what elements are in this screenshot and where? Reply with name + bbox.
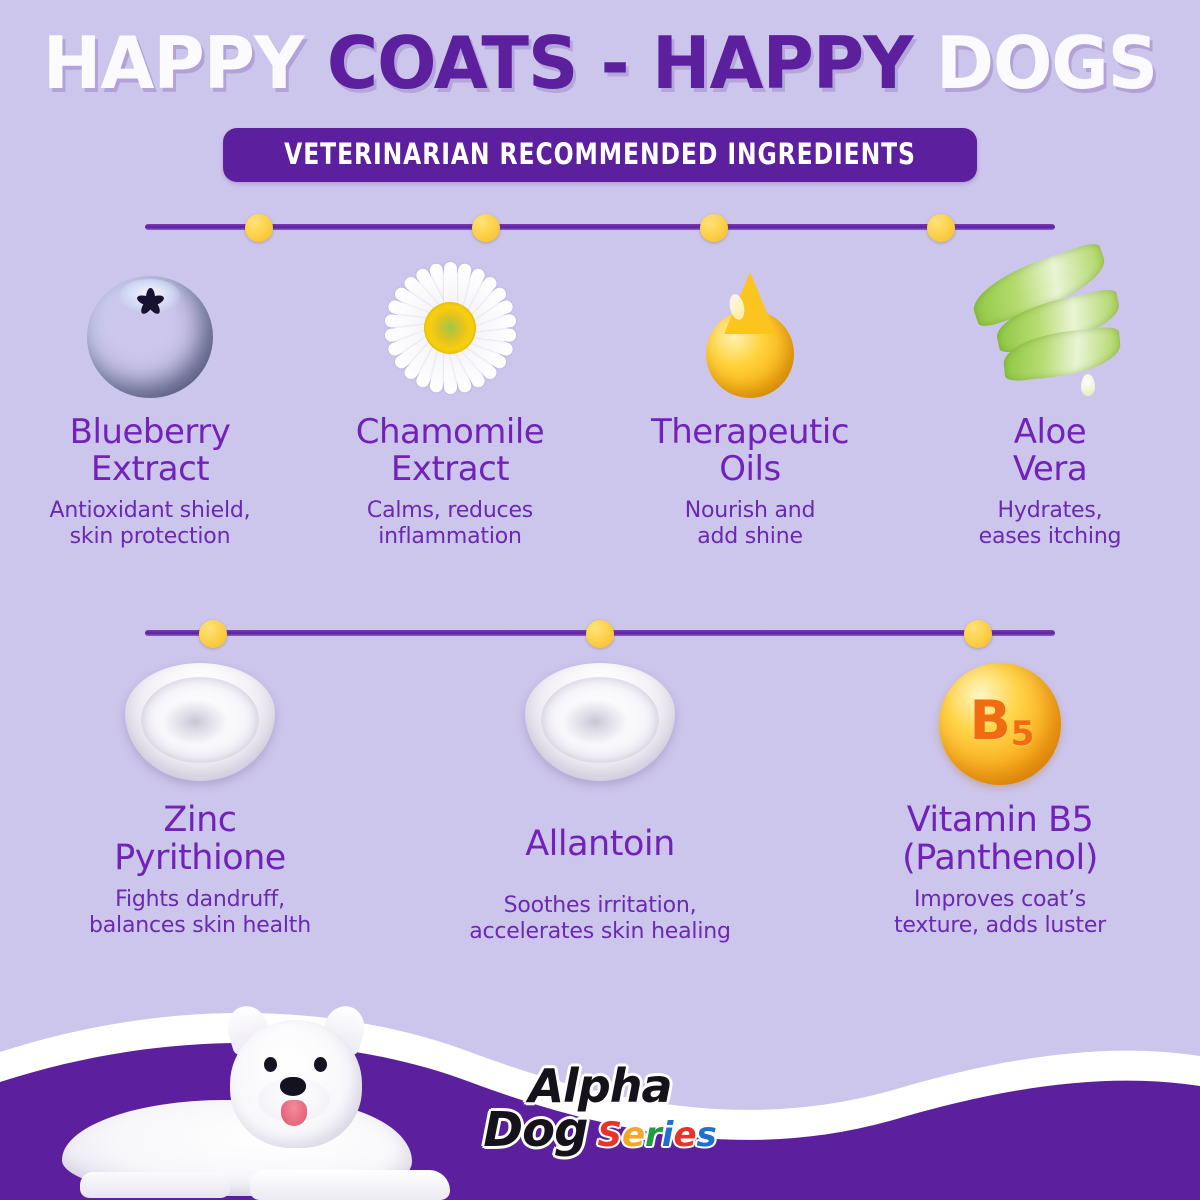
- rail-dot: [472, 214, 500, 242]
- divider-rail-row-2: [145, 612, 1055, 652]
- header: HAPPY COATS - HAPPY DOGS VETERINARIAN RE…: [0, 0, 1200, 200]
- card-description: Nourish and add shine: [685, 498, 816, 550]
- title-part-happy: HAPPY: [43, 21, 327, 105]
- brand-logo[interactable]: Alpha Dog Series: [390, 1064, 810, 1154]
- ingredient-card-blueberry[interactable]: Blueberry Extract Antioxidant shield, sk…: [0, 248, 300, 588]
- logo-dog-text: Dog: [483, 1106, 587, 1154]
- rail-dot: [700, 214, 728, 242]
- ingredient-card-vitamin-b5[interactable]: B5 Vitamin B5 (Panthenol) Improves coat’…: [800, 650, 1200, 990]
- rail-dot: [199, 620, 227, 648]
- rail-dot: [964, 620, 992, 648]
- aloe-vera-icon: [965, 248, 1135, 398]
- card-title: Therapeutic Oils: [651, 414, 849, 488]
- card-description: Soothes irritation, accelerates skin hea…: [469, 893, 731, 945]
- logo-series-letter: s: [697, 1115, 717, 1155]
- logo-alpha-text: Alpha: [390, 1064, 810, 1108]
- badge-label: VETERINARIAN RECOMMENDED INGREDIENTS: [284, 137, 916, 171]
- card-title: Allantoin: [525, 825, 675, 863]
- rail-dot: [586, 620, 614, 648]
- powder-bowl-icon: [125, 650, 275, 785]
- card-title: Blueberry Extract: [70, 414, 231, 488]
- blueberry-icon: [87, 248, 213, 398]
- ingredient-row-1: Blueberry Extract Antioxidant shield, sk…: [0, 248, 1200, 588]
- card-description: Antioxidant shield, skin protection: [50, 498, 251, 550]
- footer-wave-banner: Alpha Dog Series: [0, 990, 1200, 1200]
- divider-rail-row-1: [145, 206, 1055, 246]
- rail-line: [145, 224, 1055, 230]
- logo-series-letter: e: [622, 1115, 645, 1155]
- page-title: HAPPY COATS - HAPPY DOGS: [18, 24, 1182, 102]
- card-description: Fights dandruff, balances skin health: [89, 887, 311, 939]
- ingredient-card-aloe-vera[interactable]: Aloe Vera Hydrates, eases itching: [900, 248, 1200, 588]
- logo-series-letter: S: [597, 1115, 622, 1155]
- rail-dot: [245, 214, 273, 242]
- ingredient-card-therapeutic-oils[interactable]: Therapeutic Oils Nourish and add shine: [600, 248, 900, 588]
- title-part-coats-happy: COATS - HAPPY: [327, 21, 936, 105]
- b5-letter: B: [970, 689, 1009, 752]
- card-title: Aloe Vera: [1013, 414, 1087, 488]
- rail-dot: [927, 214, 955, 242]
- card-title: Vitamin B5 (Panthenol): [902, 801, 1098, 877]
- b5-number: 5: [1011, 714, 1033, 754]
- logo-series-letter: i: [662, 1115, 674, 1155]
- logo-series-text: Series: [597, 1118, 716, 1152]
- logo-series-letter: e: [673, 1115, 696, 1155]
- ingredient-row-2: Zinc Pyrithione Fights dandruff, balance…: [0, 650, 1200, 990]
- chamomile-flower-icon: [375, 248, 525, 398]
- logo-series-letter: r: [645, 1115, 662, 1155]
- card-description: Hydrates, eases itching: [979, 498, 1122, 550]
- card-description: Calms, reduces inflammation: [367, 498, 533, 550]
- status-badge: VETERINARIAN RECOMMENDED INGREDIENTS: [223, 128, 977, 182]
- ingredient-card-chamomile[interactable]: Chamomile Extract Calms, reduces inflamm…: [300, 248, 600, 588]
- card-title: Chamomile Extract: [356, 414, 544, 488]
- ingredient-card-zinc-pyrithione[interactable]: Zinc Pyrithione Fights dandruff, balance…: [0, 650, 400, 990]
- oil-drop-icon: [706, 248, 794, 398]
- ingredient-card-allantoin[interactable]: Allantoin Soothes irritation, accelerate…: [400, 650, 800, 990]
- vitamin-b5-sphere-icon: B5: [939, 650, 1061, 785]
- powder-bowl-icon: [525, 650, 675, 785]
- card-title: Zinc Pyrithione: [114, 801, 286, 877]
- title-part-dogs: DOGS: [936, 21, 1157, 105]
- card-description: Improves coat’s texture, adds luster: [894, 887, 1106, 939]
